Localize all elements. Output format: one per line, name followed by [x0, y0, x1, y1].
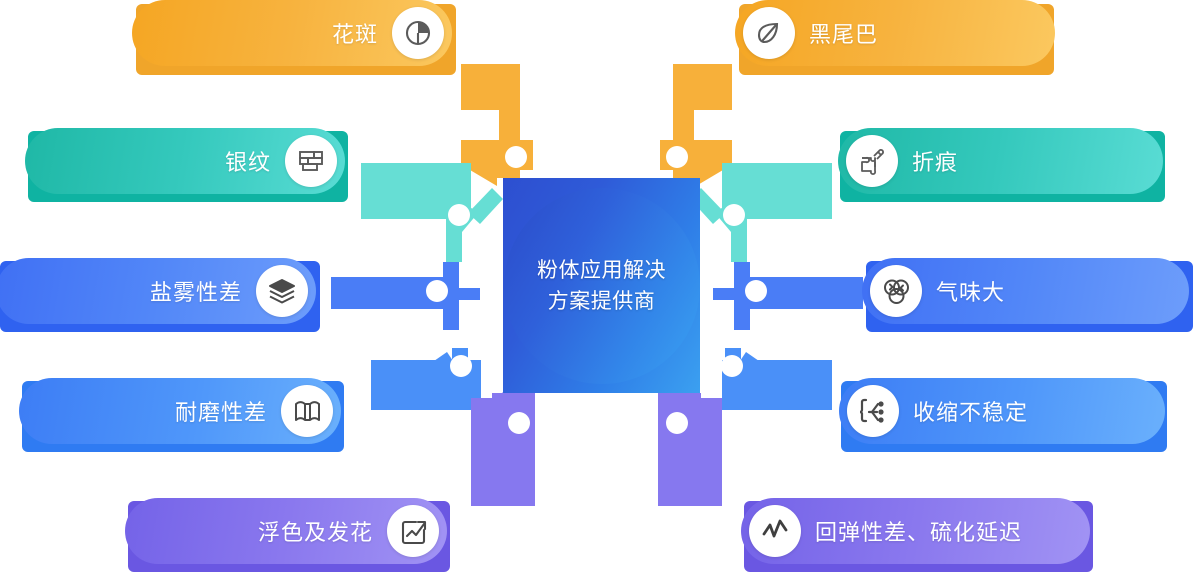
- node-label: 银纹: [225, 145, 271, 177]
- hub-label: 粉体应用解决 方案提供商: [503, 255, 700, 317]
- sitemap-icon: [847, 385, 899, 437]
- node-huitanxingcha[interactable]: 回弹性差、硫化延迟: [741, 498, 1090, 564]
- line-chart-icon: [749, 505, 801, 557]
- connector-qiweida: [713, 262, 863, 330]
- connector-shousuobuwending: [721, 348, 832, 410]
- node-label: 浮色及发花: [258, 515, 373, 547]
- node-heiweiba[interactable]: 黑尾巴: [735, 0, 1055, 66]
- node-label: 气味大: [936, 275, 1005, 307]
- connector-heiweiba: [660, 64, 732, 186]
- connector-zhehen: [690, 163, 832, 262]
- leaf-icon: [743, 7, 795, 59]
- node-zhehen[interactable]: 折痕: [838, 128, 1163, 194]
- node-naimoxingcha[interactable]: 耐磨性差: [19, 378, 341, 444]
- node-shousuobuwending[interactable]: 收缩不稳定: [839, 378, 1165, 444]
- node-label: 回弹性差、硫化延迟: [815, 515, 1022, 547]
- connector-yinwen: [361, 163, 503, 262]
- recycle-icon: [870, 265, 922, 317]
- chart-arrow-icon: [387, 505, 439, 557]
- map-icon: [281, 385, 333, 437]
- node-yinwen[interactable]: 银纹: [25, 128, 345, 194]
- brick-wall-icon: [285, 135, 337, 187]
- node-label: 收缩不稳定: [913, 395, 1028, 427]
- node-label: 折痕: [912, 145, 958, 177]
- node-yanwuxingcha[interactable]: 盐雾性差: [0, 258, 316, 324]
- node-label: 耐磨性差: [175, 395, 267, 427]
- pie-chart-icon: [392, 7, 444, 59]
- connector-huitanxingcha: [658, 378, 722, 506]
- node-qiweida[interactable]: 气味大: [862, 258, 1189, 324]
- puzzle-piece-icon: [846, 135, 898, 187]
- node-label: 盐雾性差: [150, 275, 242, 307]
- node-huaban[interactable]: 花斑: [132, 0, 452, 66]
- connector-yanwuxingcha: [331, 262, 480, 330]
- connector-naimoxingcha: [371, 348, 481, 410]
- node-label: 花斑: [332, 17, 378, 49]
- connector-huaban: [461, 64, 533, 186]
- diagram-canvas: 粉体应用解决 方案提供商 花斑 黑尾巴 银纹: [0, 0, 1193, 577]
- node-fuseijifahua[interactable]: 浮色及发花: [125, 498, 447, 564]
- layers-icon: [256, 265, 308, 317]
- node-label: 黑尾巴: [809, 17, 878, 49]
- center-hub[interactable]: 粉体应用解决 方案提供商: [503, 178, 700, 393]
